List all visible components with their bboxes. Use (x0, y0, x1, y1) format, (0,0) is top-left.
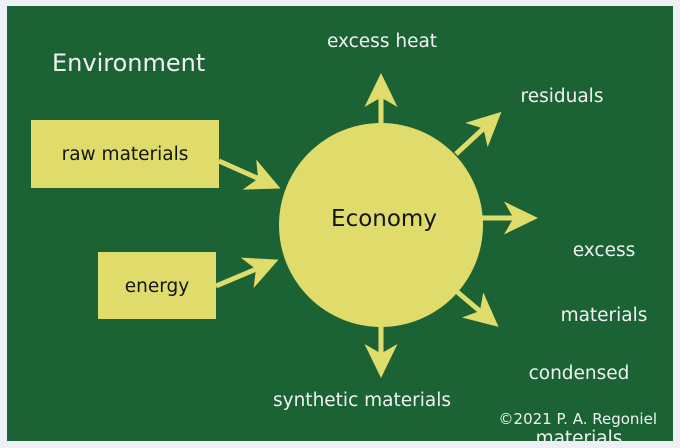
arrow-energy-to-economy (216, 262, 273, 286)
figure-frame: Environment raw materials energy Economy… (0, 0, 680, 448)
diagram-vector-layer (7, 6, 673, 441)
arrow-residuals (456, 116, 497, 154)
input-box-energy (98, 252, 216, 319)
economy-circle (279, 123, 483, 327)
environment-economy-diagram: Environment raw materials energy Economy… (7, 6, 673, 441)
input-box-raw-materials (31, 120, 219, 188)
arrow-raw-materials-to-economy (219, 161, 275, 186)
arrow-condensed-materials (455, 290, 494, 323)
